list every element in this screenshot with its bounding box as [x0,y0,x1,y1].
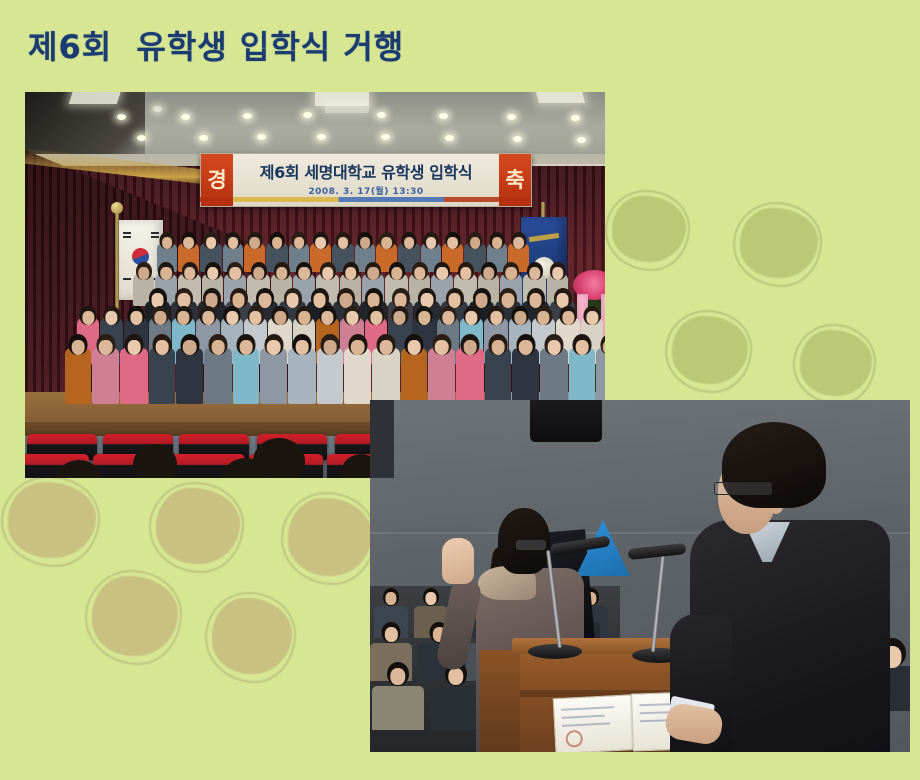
ceiling-speaker [530,400,602,442]
person-head [377,334,396,355]
person-head [391,306,408,325]
person-head [237,334,256,355]
certificate-document [553,694,644,752]
person-face [552,267,564,280]
person-face [71,340,85,355]
person-torso [204,348,232,404]
person-head [224,306,241,325]
person-face [391,267,403,280]
person-head [96,334,115,355]
person-head [412,262,428,280]
person-face [483,267,495,280]
person-face [315,237,326,249]
person-torso [596,348,605,404]
person-face [295,340,309,355]
person-face [138,267,150,280]
person-head [209,334,228,355]
person-torso [512,348,539,404]
person [149,334,175,404]
person-head [153,334,172,355]
person-face [267,340,281,355]
person-head [125,334,144,355]
person-head [512,306,529,325]
person-torso [120,348,148,404]
person-face [183,340,197,355]
decor-blob-olive [672,316,748,384]
official-hair [722,422,826,508]
person-head [550,262,566,280]
person-face [177,311,189,325]
person-head [321,334,340,355]
person-face [298,311,310,325]
person-face [379,340,393,355]
audience-torso [430,686,482,730]
decor-blob-tan [212,598,292,674]
person [372,334,400,404]
person-torso [540,348,568,404]
person-face [529,267,541,280]
person-face [492,237,503,249]
audience-face [384,627,397,642]
ceiling-panel-light [535,92,585,103]
person-head [158,262,174,280]
person-face [274,311,286,325]
person-face [130,311,142,325]
person-torso [260,348,287,404]
person-face [105,311,117,325]
person-face [418,311,430,325]
person [120,334,148,404]
person-face [603,340,605,355]
decor-blob-olive [612,196,686,262]
flag-gold-bar [529,233,559,242]
person-head [434,262,450,280]
person [317,334,343,404]
person-face [367,267,379,280]
person-head [152,306,169,325]
person-face [162,237,173,249]
person-head [584,306,601,325]
audience-head [423,588,439,606]
person-face [127,340,141,355]
person-torso [401,348,427,404]
banner-date-text: 2008. 3. 17(월) 13:30 [308,184,423,197]
person-head [270,232,285,249]
person-face [184,267,196,280]
person-head [344,306,361,325]
person [344,334,371,404]
person-head [272,306,289,325]
person-head [365,262,381,280]
person-head [175,306,192,325]
person-head [488,306,505,325]
person-face [514,311,526,325]
person-head [535,306,552,325]
person-face [586,311,598,325]
person-head [226,232,241,249]
person [540,334,568,404]
audience-face [385,592,396,604]
person-head [293,334,312,355]
person-face [519,340,533,355]
person-face [298,267,310,280]
person-head [103,306,120,325]
official-glasses [714,482,772,495]
person-torso [569,348,595,404]
audience-head [133,444,177,478]
person-face [463,340,477,355]
person [204,334,232,404]
person-head [181,232,196,249]
person-face [442,311,454,325]
person-head [358,232,373,249]
flag-pole-knob [111,202,123,214]
decor-blob-olive [800,330,872,396]
page-title: 제6회 유학생 입학식 거행 [28,22,404,68]
person-head [432,334,451,355]
person-face [338,237,349,249]
audience-face [390,668,405,685]
person-torso [485,348,511,404]
person-head [247,306,264,325]
person-head [405,334,424,355]
person-face [207,267,219,280]
person-head [200,306,217,325]
person-face [294,237,305,249]
person-face [226,311,238,325]
person-head [503,262,519,280]
person-face [435,340,449,355]
person-head [368,306,385,325]
person-head [180,334,199,355]
person [260,334,287,404]
person-head [348,334,367,355]
person-head [69,334,88,355]
person-face [575,340,589,355]
student-raised-hand [442,538,474,584]
person-face [323,340,337,355]
person-head [313,232,328,249]
person-torso [65,348,91,404]
person-face [370,311,382,325]
person-face [229,267,241,280]
person-face [360,237,371,249]
person-head [80,306,97,325]
student-glasses [516,540,546,550]
audience-face [448,668,463,685]
person-face [155,340,169,355]
person-face [346,311,358,325]
person-head [545,334,564,355]
audience-torso [372,686,424,730]
banner-main-text: 제6회 세명대학교 유학생 입학식 [260,165,472,182]
person [176,334,203,404]
person-torso [344,348,371,404]
person-face [253,267,265,280]
decor-blob-tan [156,488,240,564]
person-face [345,267,357,280]
person-face [470,237,481,249]
person-head [343,262,359,280]
person-face [272,237,283,249]
person-face [393,311,405,325]
person-face [465,311,477,325]
person-head [204,232,219,249]
person-face [381,237,392,249]
person-torso [92,348,119,404]
person-head [292,232,307,249]
person-head [205,262,221,280]
person-face [160,267,172,280]
person-head [527,262,543,280]
person-head [445,232,460,249]
audience-face [425,592,436,604]
person [288,334,316,404]
audience-head [387,662,409,686]
person [233,334,259,404]
person-head [296,262,312,280]
wall-dark-panel [370,400,394,478]
person-face [404,237,415,249]
person-head [402,232,417,249]
person [401,334,427,404]
person-torso [372,348,400,404]
person-face [154,311,166,325]
person-face [460,267,472,280]
person-head [128,306,145,325]
person-head [296,306,313,325]
person-torso [456,348,484,404]
audience-head [382,622,401,643]
person-head [379,232,394,249]
person-face [426,237,437,249]
person-torso [428,348,455,404]
person-face [436,267,448,280]
person-face [239,340,253,355]
person-torso [149,348,175,404]
person-head [461,334,480,355]
audience-member [372,662,424,730]
person-head [481,262,497,280]
person-face [276,267,288,280]
person [512,334,539,404]
person [596,334,605,404]
person-head [416,306,433,325]
person-face [414,267,426,280]
person [569,334,595,404]
person-face [82,311,94,325]
person-head [489,334,508,355]
person-face [99,340,113,355]
person-head [440,306,457,325]
ceiling-panel-light [325,104,369,113]
person-head [463,306,480,325]
person-face [513,237,524,249]
person-head [160,232,175,249]
person-face [407,340,421,355]
person-head [336,232,351,249]
person-face [547,340,561,355]
person-head [247,232,262,249]
person-face [491,340,505,355]
person-face [322,267,334,280]
decor-blob-tan [288,498,372,576]
person-head [251,262,267,280]
person-head [227,262,243,280]
person-head [264,334,283,355]
person-face [505,267,517,280]
person-head [182,262,198,280]
decor-blob-olive [740,208,818,278]
person-head [274,262,290,280]
banner-bottom-stripe [200,197,530,202]
student-group-row-front-lower [65,334,605,404]
decor-blob-tan [8,482,96,558]
person-face [537,311,549,325]
person-torso [288,348,316,404]
person-face [321,311,333,325]
person [428,334,455,404]
person-face [447,237,458,249]
person-head [511,232,526,249]
person-face [228,237,239,249]
person-face [211,340,225,355]
decor-blob-tan [92,576,178,656]
person [456,334,484,404]
ceiling-panel-light [69,92,122,104]
person-head [560,306,577,325]
person-head [468,232,483,249]
person [65,334,91,404]
audience-member [430,662,482,730]
person [92,334,119,404]
person-head [490,232,505,249]
person-head [458,262,474,280]
person-face [206,237,217,249]
person-head [573,334,592,355]
person-torso [176,348,203,404]
person-head [136,262,152,280]
person-torso [233,348,259,404]
person-face [562,311,574,325]
person-face [490,311,502,325]
person [485,334,511,404]
audience-head [383,588,399,606]
person-head [516,334,535,355]
oath-ceremony-photo [370,400,910,752]
person-face [202,311,214,325]
person-face [249,311,261,325]
person-head [389,262,405,280]
person-face [351,340,365,355]
microphone-base [528,644,582,659]
person-torso [317,348,343,404]
person-head [424,232,439,249]
person-face [183,237,194,249]
person-face [249,237,260,249]
person-head [320,262,336,280]
person-head [319,306,336,325]
